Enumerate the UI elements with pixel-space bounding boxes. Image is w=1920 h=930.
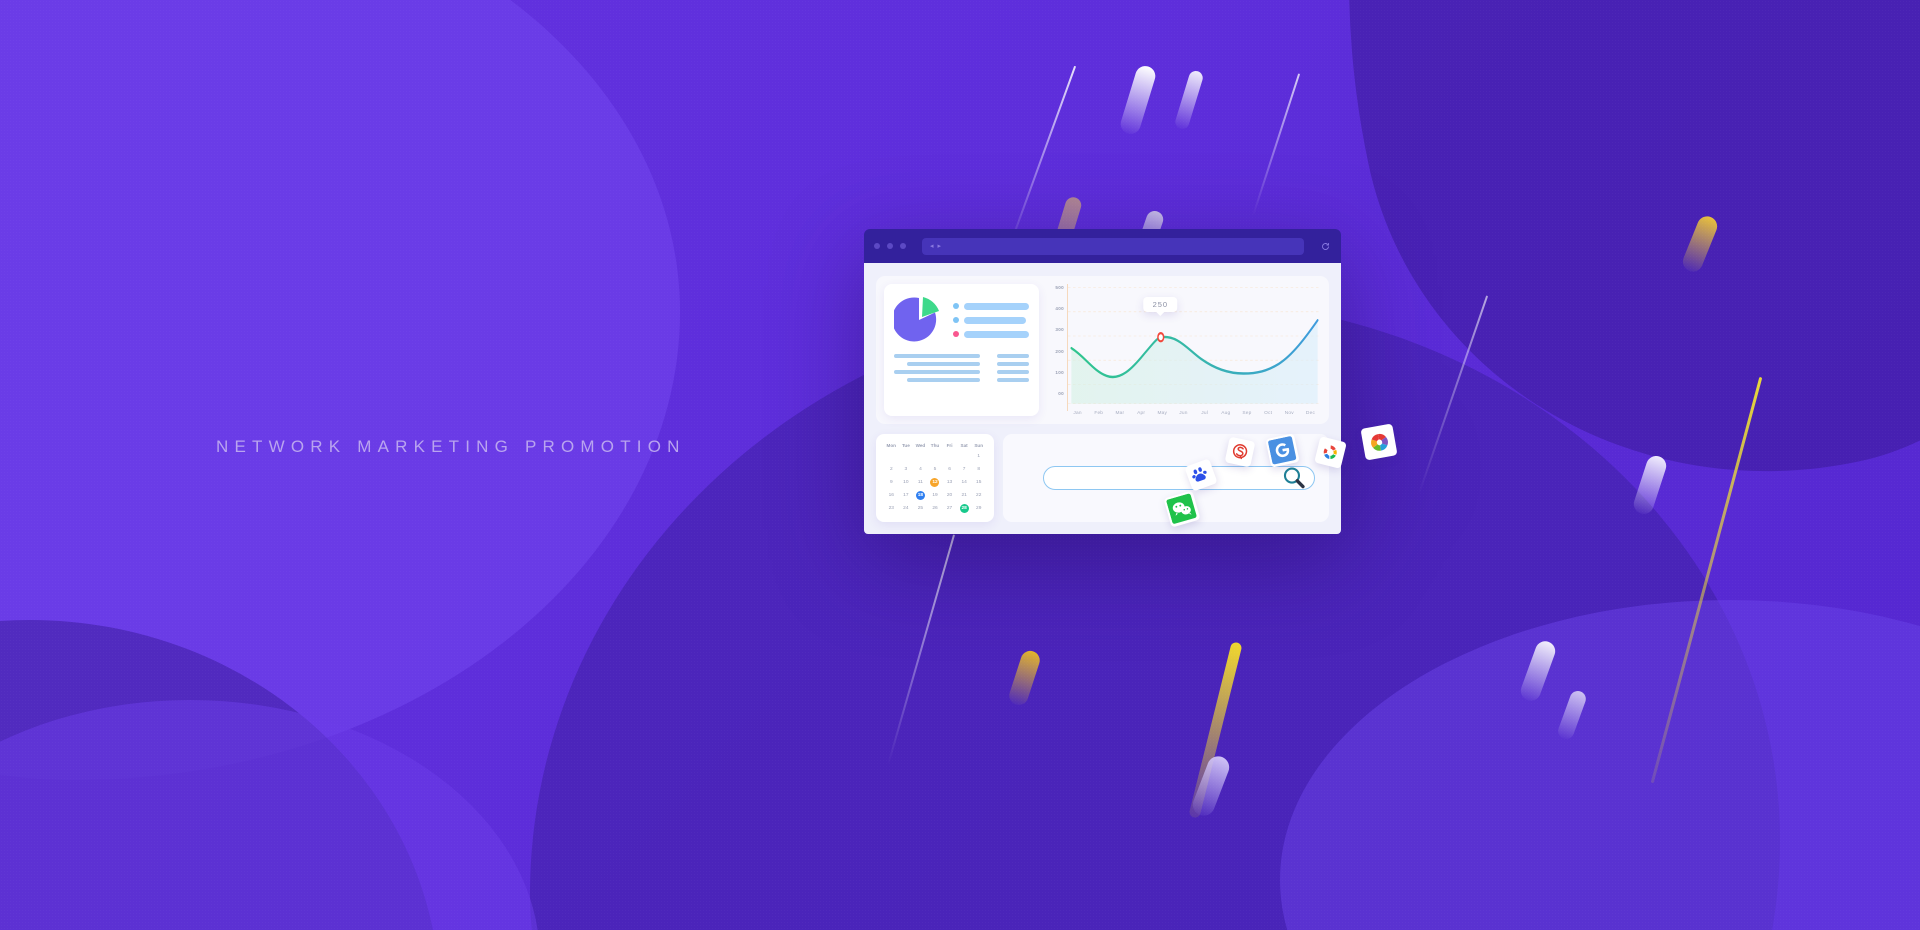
calendar-day-29[interactable]: 29 bbox=[974, 504, 983, 513]
calendar-day-17[interactable]: 17 bbox=[901, 491, 910, 500]
calendar-day-25[interactable]: 25 bbox=[916, 504, 925, 513]
chart-tooltip: 250 bbox=[1144, 297, 1178, 312]
calendar-day-2[interactable]: 2 bbox=[887, 465, 896, 474]
x-axis-tick: Apr bbox=[1131, 411, 1152, 416]
legend-item bbox=[953, 317, 1029, 324]
x-axis-tick: Dec bbox=[1300, 411, 1321, 416]
calendar-day-15[interactable]: 15 bbox=[974, 478, 983, 487]
x-axis-tick: Mar bbox=[1109, 411, 1130, 416]
address-bar[interactable]: ◂ ▸ bbox=[922, 238, 1304, 255]
calendar-day-4[interactable]: 4 bbox=[916, 465, 925, 474]
bottom-row: MonTueWedThuFriSatSun1234567891011121314… bbox=[876, 434, 1329, 522]
y-axis-tick: 100 bbox=[1055, 370, 1064, 375]
placeholder-line bbox=[907, 378, 980, 382]
calendar-day-10[interactable]: 10 bbox=[901, 478, 910, 487]
pie-chart-card bbox=[884, 284, 1039, 416]
legend-dot-icon bbox=[953, 317, 959, 323]
legend-item bbox=[953, 303, 1029, 310]
placeholder-text-block bbox=[894, 354, 1029, 382]
x-axis-tick: May bbox=[1152, 411, 1173, 416]
placeholder-line bbox=[997, 370, 1029, 374]
legend-item bbox=[953, 331, 1029, 338]
placeholder-column-wide bbox=[894, 354, 987, 382]
calendar-day-24[interactable]: 24 bbox=[901, 504, 910, 513]
calendar-weekday-header: Mon bbox=[887, 443, 896, 448]
line-chart-plot-area: 50040030020010000 bbox=[1047, 284, 1321, 411]
placeholder-column-narrow bbox=[997, 354, 1029, 382]
placeholder-line bbox=[894, 354, 980, 358]
calendar-day-23[interactable]: 23 bbox=[887, 504, 896, 513]
calendar-weekday-header: Wed bbox=[916, 443, 926, 448]
calendar-day-16[interactable]: 16 bbox=[887, 491, 896, 500]
x-axis-tick: Aug bbox=[1215, 411, 1236, 416]
calendar-day-9[interactable]: 9 bbox=[887, 478, 896, 487]
aperture-icon[interactable] bbox=[1360, 423, 1397, 460]
marker-dot bbox=[1158, 333, 1164, 341]
calendar-day-8[interactable]: 8 bbox=[974, 465, 983, 474]
x-axis-tick: Jan bbox=[1067, 411, 1088, 416]
calendar-day-6[interactable]: 6 bbox=[945, 465, 954, 474]
google-icon[interactable] bbox=[1265, 433, 1299, 467]
nav-back-icon[interactable]: ◂ bbox=[930, 243, 934, 250]
window-minimize-dot[interactable] bbox=[887, 243, 893, 249]
calendar-day-11[interactable]: 11 bbox=[916, 478, 925, 487]
page-title: NETWORK MARKETING PROMOTION bbox=[216, 437, 686, 457]
calendar-day-12[interactable]: 12 bbox=[930, 478, 939, 487]
calendar-day-1[interactable]: 1 bbox=[974, 452, 983, 461]
calendar-day-13[interactable]: 13 bbox=[945, 478, 954, 487]
y-axis-tick: 300 bbox=[1055, 327, 1064, 332]
y-axis-tick: 00 bbox=[1058, 391, 1064, 396]
legend-dot-icon bbox=[953, 331, 959, 337]
x-axis-tick: Oct bbox=[1258, 411, 1279, 416]
calendar-card: MonTueWedThuFriSatSun1234567891011121314… bbox=[876, 434, 994, 522]
legend-bar bbox=[964, 303, 1029, 310]
placeholder-line bbox=[997, 362, 1029, 366]
legend-bar bbox=[964, 317, 1026, 324]
calendar-day-14[interactable]: 14 bbox=[960, 478, 969, 487]
legend-bar bbox=[964, 331, 1029, 338]
search-icon[interactable] bbox=[1281, 465, 1307, 491]
pie-legend bbox=[953, 303, 1029, 338]
calendar-weekday-header: Sat bbox=[961, 443, 968, 448]
plot-area: 250 bbox=[1067, 284, 1321, 411]
calendar-day-5[interactable]: 5 bbox=[930, 465, 939, 474]
pie-chart bbox=[894, 295, 944, 345]
x-axis: JanFebMarAprMayJunJulAugSepOctNovDec bbox=[1047, 411, 1321, 416]
placeholder-line bbox=[907, 362, 980, 366]
x-axis-tick: Nov bbox=[1279, 411, 1300, 416]
y-axis-tick: 400 bbox=[1055, 306, 1064, 311]
y-axis-tick: 500 bbox=[1055, 285, 1064, 290]
placeholder-line bbox=[997, 354, 1029, 358]
calendar-weekday-header: Sun bbox=[974, 443, 983, 448]
pie-chart-row bbox=[894, 295, 1029, 345]
y-axis: 50040030020010000 bbox=[1047, 284, 1067, 411]
calendar-day-21[interactable]: 21 bbox=[960, 491, 969, 500]
placeholder-line bbox=[894, 370, 980, 374]
browser-chrome: ◂ ▸ bbox=[864, 229, 1341, 263]
placeholder-line bbox=[997, 378, 1029, 382]
line-chart-card: 50040030020010000 bbox=[1047, 284, 1321, 416]
calendar-day-26[interactable]: 26 bbox=[930, 504, 939, 513]
calendar-day-20[interactable]: 20 bbox=[945, 491, 954, 500]
calendar-weekday-header: Fri bbox=[947, 443, 953, 448]
calendar-day-19[interactable]: 19 bbox=[930, 491, 939, 500]
search-input[interactable] bbox=[1043, 466, 1315, 490]
analytics-panel: 50040030020010000 bbox=[876, 276, 1329, 424]
calendar-grid: MonTueWedThuFriSatSun1234567891011121314… bbox=[884, 443, 986, 513]
browser-window: ◂ ▸ bbox=[864, 229, 1341, 534]
nav-forward-icon[interactable]: ▸ bbox=[938, 243, 942, 250]
dashboard-body: 50040030020010000 bbox=[864, 263, 1341, 534]
x-axis-tick: Sep bbox=[1236, 411, 1257, 416]
calendar-day-22[interactable]: 22 bbox=[974, 491, 983, 500]
calendar-day-28[interactable]: 28 bbox=[960, 504, 969, 513]
x-axis-tick: Jul bbox=[1194, 411, 1215, 416]
wechat-icon[interactable] bbox=[1163, 490, 1200, 527]
calendar-day-18[interactable]: 18 bbox=[916, 491, 925, 500]
legend-dot-icon bbox=[953, 303, 959, 309]
y-axis-tick: 200 bbox=[1055, 349, 1064, 354]
area-chart-svg bbox=[1068, 284, 1321, 411]
x-axis-tick: Feb bbox=[1088, 411, 1109, 416]
window-traffic-lights bbox=[874, 243, 906, 249]
window-close-dot[interactable] bbox=[874, 243, 880, 249]
calendar-day-3[interactable]: 3 bbox=[901, 465, 910, 474]
calendar-weekday-header: Thu bbox=[931, 443, 939, 448]
calendar-day-27[interactable]: 27 bbox=[945, 504, 954, 513]
reload-icon[interactable] bbox=[1319, 240, 1331, 252]
calendar-weekday-header: Tue bbox=[902, 443, 910, 448]
x-axis-tick: Jun bbox=[1173, 411, 1194, 416]
window-maximize-dot[interactable] bbox=[900, 243, 906, 249]
sogou-icon[interactable] bbox=[1225, 437, 1256, 468]
search-card bbox=[1003, 434, 1329, 522]
calendar-day-7[interactable]: 7 bbox=[960, 465, 969, 474]
